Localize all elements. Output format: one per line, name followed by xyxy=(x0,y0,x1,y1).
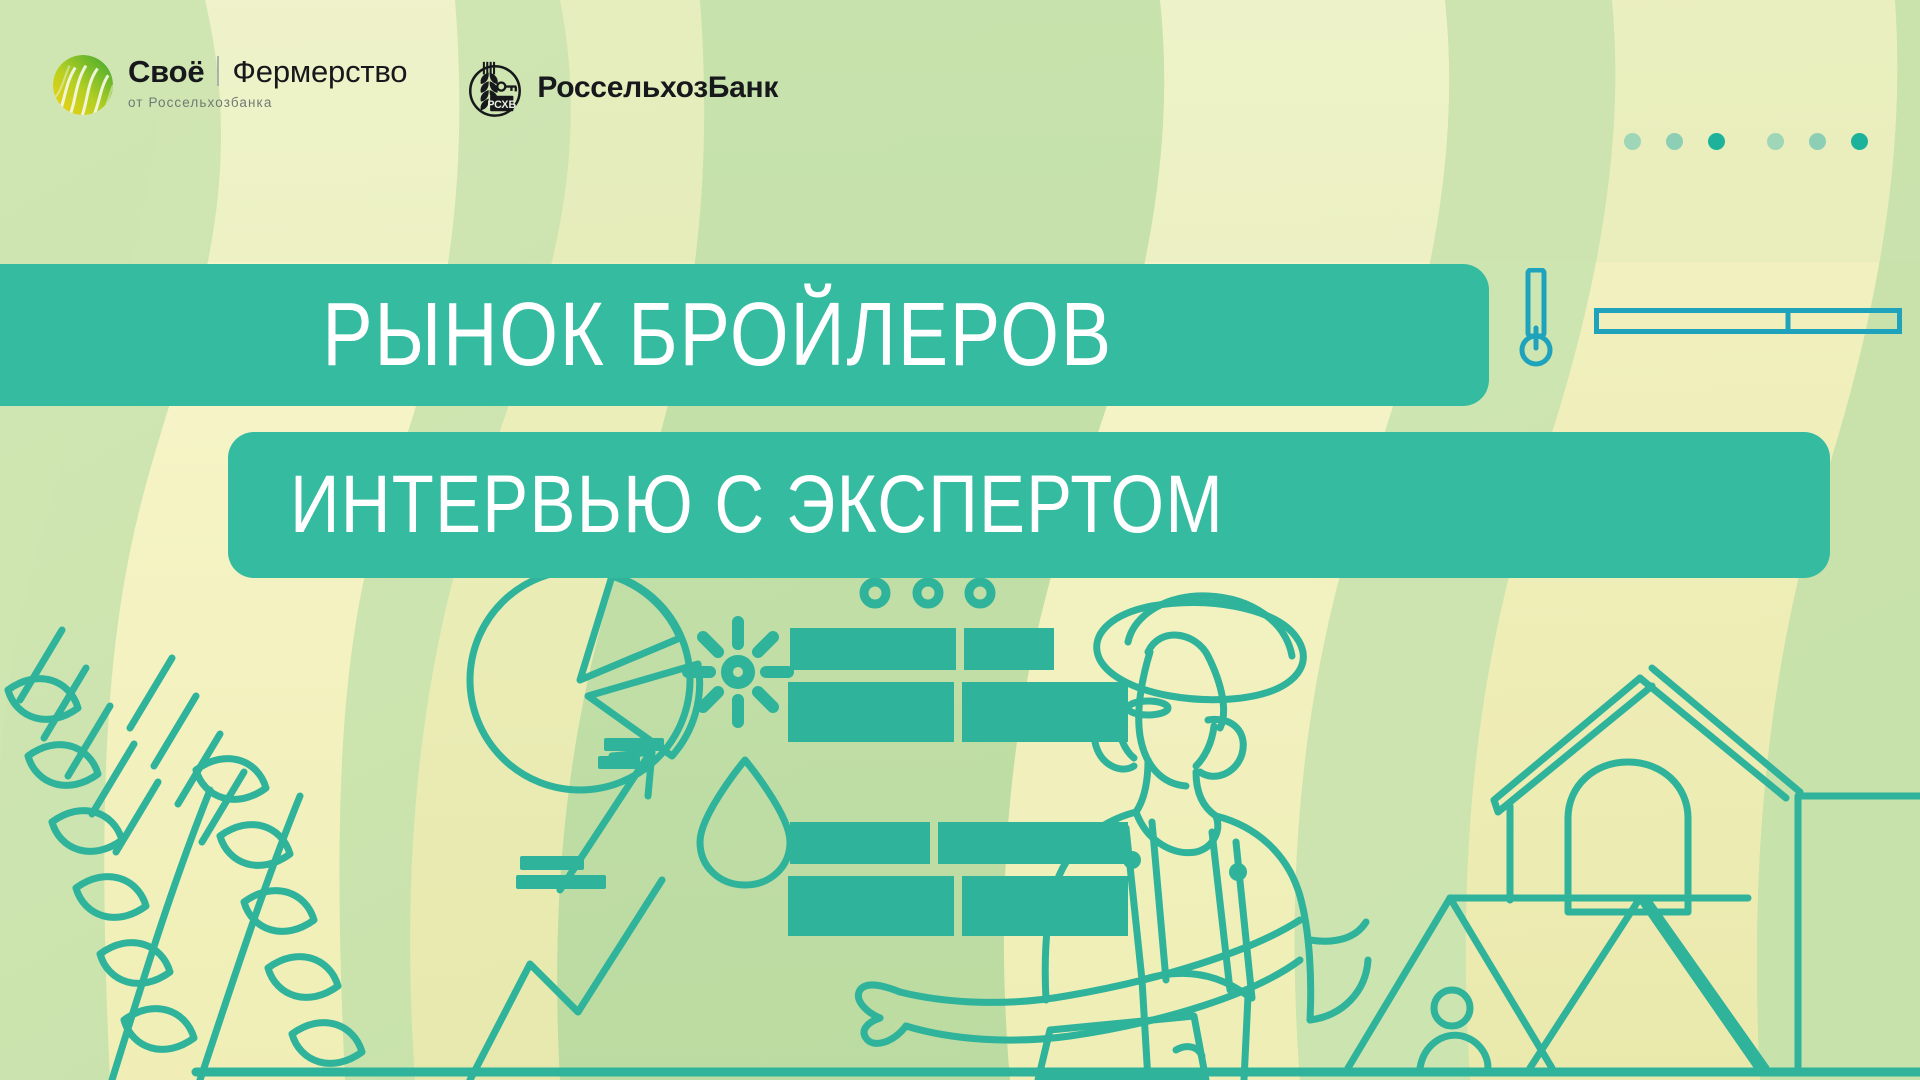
house-icon xyxy=(1494,668,1920,1068)
document-rows-icon xyxy=(788,628,1128,936)
svoe-wordmark-bold: Своё xyxy=(128,56,204,87)
growth-arrow-icon xyxy=(470,752,662,1080)
svoe-wordmark-light: Фермерство xyxy=(232,56,407,87)
decor-dot-4 xyxy=(1767,133,1784,150)
thermometer-icon xyxy=(1516,268,1556,368)
brand-header: Своё Фермерство от Россельхозбанка xyxy=(52,52,778,119)
decor-dots xyxy=(1624,133,1868,150)
svoe-fermerstvo-logo[interactable]: Своё Фермерство от Россельхозбанка xyxy=(52,52,407,116)
decor-dot-3 xyxy=(1708,133,1725,150)
ruler-bar-icon xyxy=(1594,308,1902,334)
decor-dot-1 xyxy=(1624,133,1641,150)
svoe-logo-subtitle: от Россельхозбанка xyxy=(128,95,407,110)
rshb-wheat-key-emblem-icon: РСХБ xyxy=(463,57,525,119)
wheat-stalks-icon xyxy=(8,630,362,1080)
pie-chart-icon xyxy=(470,570,700,790)
decor-dot-5 xyxy=(1809,133,1826,150)
decor-dot-6 xyxy=(1851,133,1868,150)
svg-text:РСХБ: РСХБ xyxy=(488,99,517,111)
farm-illustration xyxy=(0,560,1920,1080)
subtitle-text: ИНТЕРВЬЮ С ЭКСПЕРТОМ xyxy=(290,464,1224,546)
water-drop-icon xyxy=(700,760,790,885)
subtitle-banner: ИНТЕРВЬЮ С ЭКСПЕРТОМ xyxy=(228,432,1830,578)
svoe-logo-divider xyxy=(217,56,219,86)
main-title-text: РЫНОК БРОЙЛЕРОВ xyxy=(322,290,1113,380)
main-title-banner: РЫНОК БРОЙЛЕРОВ xyxy=(0,264,1489,406)
sun-icon xyxy=(688,622,788,722)
poster-canvas: Своё Фермерство от Россельхозбанка xyxy=(0,0,1920,1080)
rshb-wordmark: РоссельхозБанк xyxy=(537,71,778,105)
three-dots-icon xyxy=(864,582,991,604)
rosselhozbank-logo[interactable]: РСХБ РоссельхозБанк xyxy=(463,57,778,119)
barn-icon xyxy=(1348,898,1766,1068)
svoe-leaf-circle-icon xyxy=(52,54,114,116)
decor-dot-2 xyxy=(1666,133,1683,150)
